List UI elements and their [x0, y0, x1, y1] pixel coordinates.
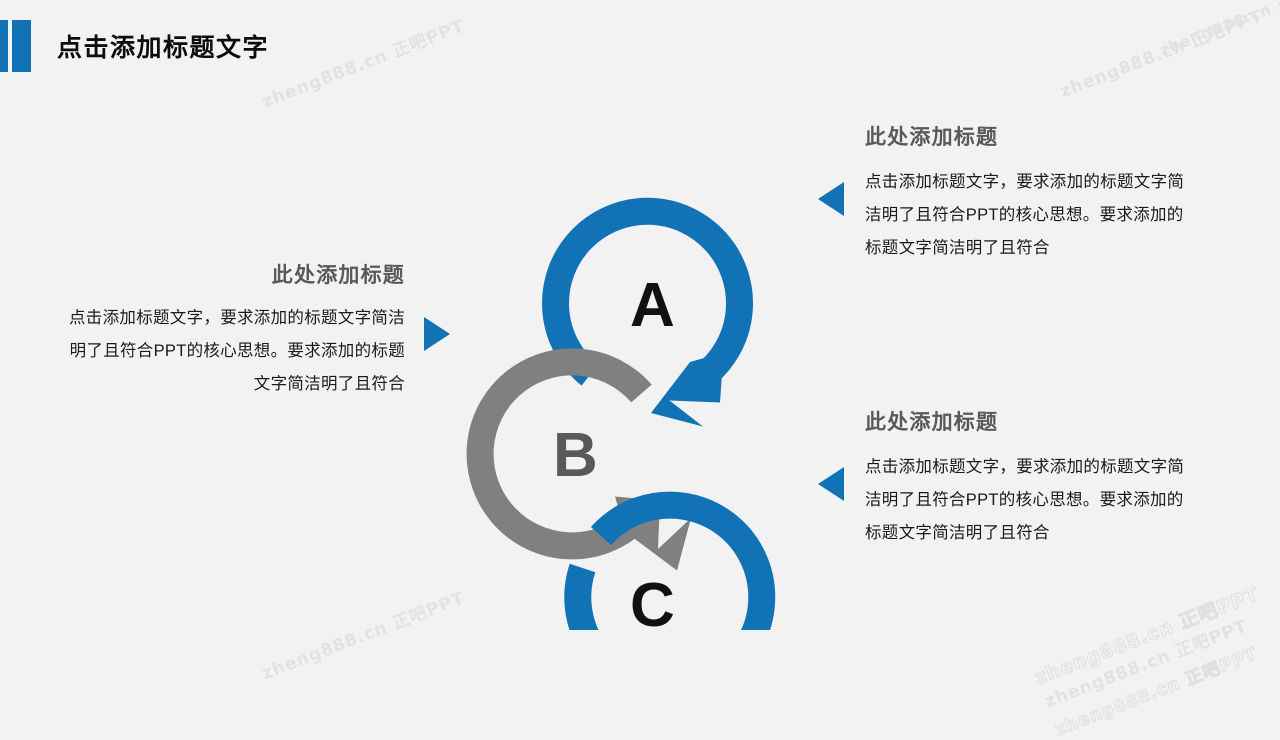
- text-block-left[interactable]: 此处添加标题 点击添加标题文字，要求添加的标题文字简洁明了且符合PPT的核心思想…: [60, 262, 405, 401]
- node-c-letter: C: [630, 575, 675, 637]
- watermark-text: zheng888.cn 正吧PPT: [1041, 612, 1251, 713]
- watermark-text: zheng888.cn 正吧PPT: [1051, 640, 1261, 740]
- triangle-left-icon: [818, 467, 844, 501]
- logo-bar-wide: [12, 20, 31, 72]
- watermark-text: zheng888.cn 正吧PPT: [258, 584, 468, 685]
- block-right-top-body: 点击添加标题文字，要求添加的标题文字简洁明了且符合PPT的核心思想。要求添加的标…: [865, 166, 1195, 265]
- slide-header: 点击添加标题文字: [0, 0, 1280, 96]
- block-left-heading: 此处添加标题: [60, 262, 405, 290]
- text-block-right-top[interactable]: 此处添加标题 点击添加标题文字，要求添加的标题文字简洁明了且符合PPT的核心思想…: [865, 124, 1195, 265]
- node-b-letter: B: [553, 425, 598, 487]
- block-left-body: 点击添加标题文字，要求添加的标题文字简洁明了且符合PPT的核心思想。要求添加的标…: [60, 302, 405, 401]
- logo-bar-thin: [0, 20, 8, 72]
- block-right-top-heading: 此处添加标题: [865, 124, 1195, 152]
- watermark-text: zheng888.cn 正吧PPT: [1030, 579, 1263, 690]
- text-block-right-bottom[interactable]: 此处添加标题 点击添加标题文字，要求添加的标题文字简洁明了且符合PPT的核心思想…: [865, 409, 1195, 550]
- triangle-right-icon: [424, 317, 450, 351]
- block-right-bottom-body: 点击添加标题文字，要求添加的标题文字简洁明了且符合PPT的核心思想。要求添加的标…: [865, 451, 1195, 550]
- block-right-bottom-heading: 此处添加标题: [865, 409, 1195, 437]
- cycle-diagram-svg: [455, 100, 805, 630]
- triangle-left-icon: [818, 182, 844, 216]
- page-title: 点击添加标题文字: [57, 31, 269, 65]
- cycle-diagram: A B C: [455, 100, 805, 630]
- node-a-letter: A: [630, 275, 675, 337]
- double-bar-logo-icon: [0, 20, 31, 72]
